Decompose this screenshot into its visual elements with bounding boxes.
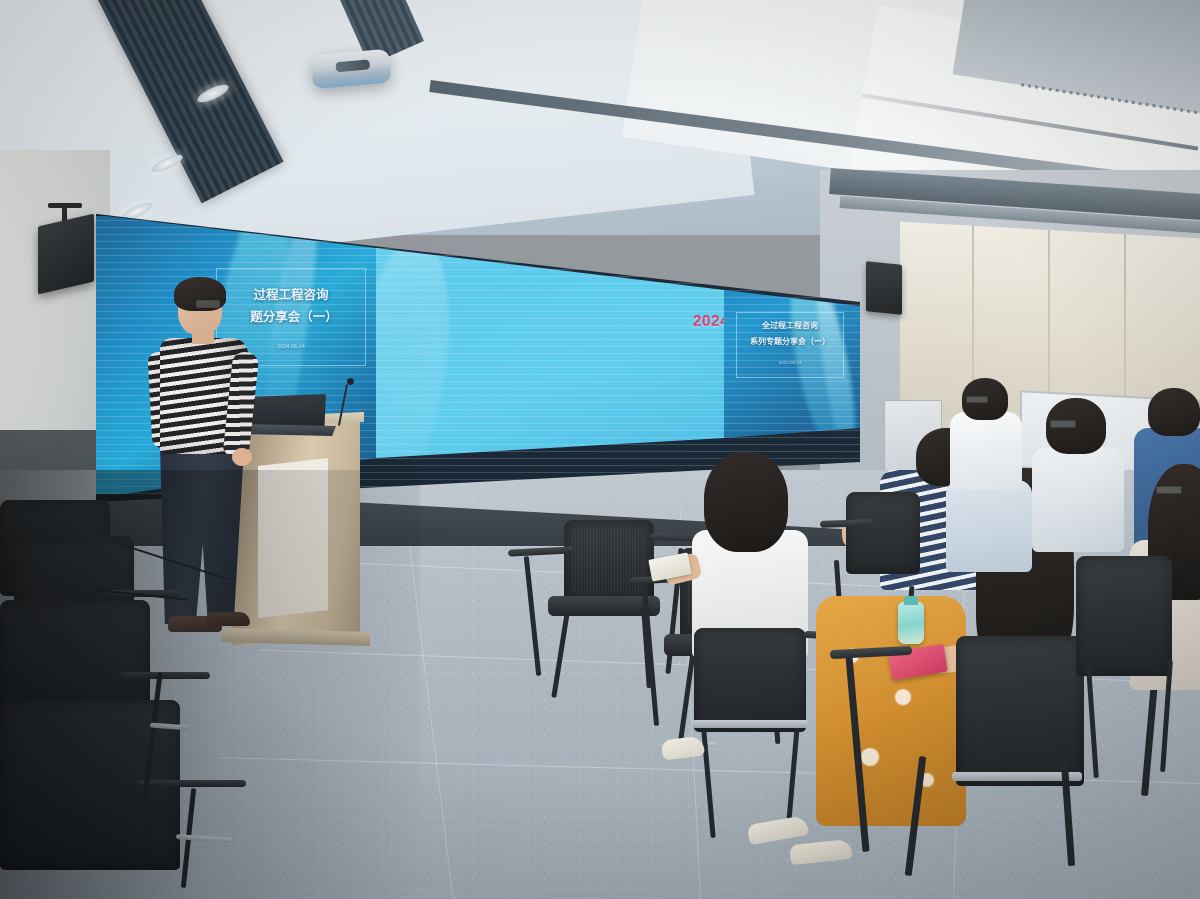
- presenter-shoe-right: [206, 612, 250, 626]
- led-slide-quote: "以高质量咨询服务支撑高质量发展的工程咨询实践与思考": [676, 401, 724, 409]
- water-bottle-cap: [904, 596, 918, 605]
- glasses-icon-white-shirt: [966, 396, 988, 403]
- podium-front-panel: [258, 458, 328, 618]
- presenter-glasses-icon: [196, 300, 220, 308]
- led-left-line1: 过程工程咨询: [216, 284, 366, 303]
- led-right-line1: 全过程工程咨询: [736, 320, 844, 331]
- led-panel-center: 全过程工程咨询实践与前瞻交流会 2024全过程工程咨询实践与前瞻交流会 心得体会…: [376, 206, 724, 506]
- led-right-line2: 系列专题分享会（一）: [734, 336, 846, 347]
- conference-room-photo: 过程工程咨询 题分享会（一） 2024.05.14 全过程工程咨询实践与前瞻交流…: [0, 0, 1200, 899]
- led-slide-subtitle: 心得体会分享: [686, 341, 724, 361]
- microphone-icon: [347, 378, 354, 385]
- led-left-line2: 题分享会（一）: [214, 306, 374, 325]
- presenter-hand: [232, 448, 252, 466]
- glasses-icon-grey-shirt: [1050, 420, 1076, 428]
- ceiling-projector-icon: [311, 49, 392, 90]
- ceiling-speaker-left-icon: [38, 214, 94, 295]
- led-slide-org: 成都市工程咨询有限公司 工程经济与咨询研究院: [676, 389, 724, 399]
- glasses-icon-long-hair: [1156, 486, 1182, 494]
- led-slide-eyebrow: 全过程工程咨询实践与前瞻交流会: [686, 294, 724, 304]
- led-slide-title: 2024全过程工程咨询实践与前瞻交流会: [686, 309, 724, 331]
- water-bottle[interactable]: [898, 602, 924, 644]
- led-right-date: 2024.05.14: [736, 360, 844, 365]
- wall-speaker-right-icon: [866, 261, 902, 315]
- laptop-keyboard[interactable]: [240, 424, 336, 436]
